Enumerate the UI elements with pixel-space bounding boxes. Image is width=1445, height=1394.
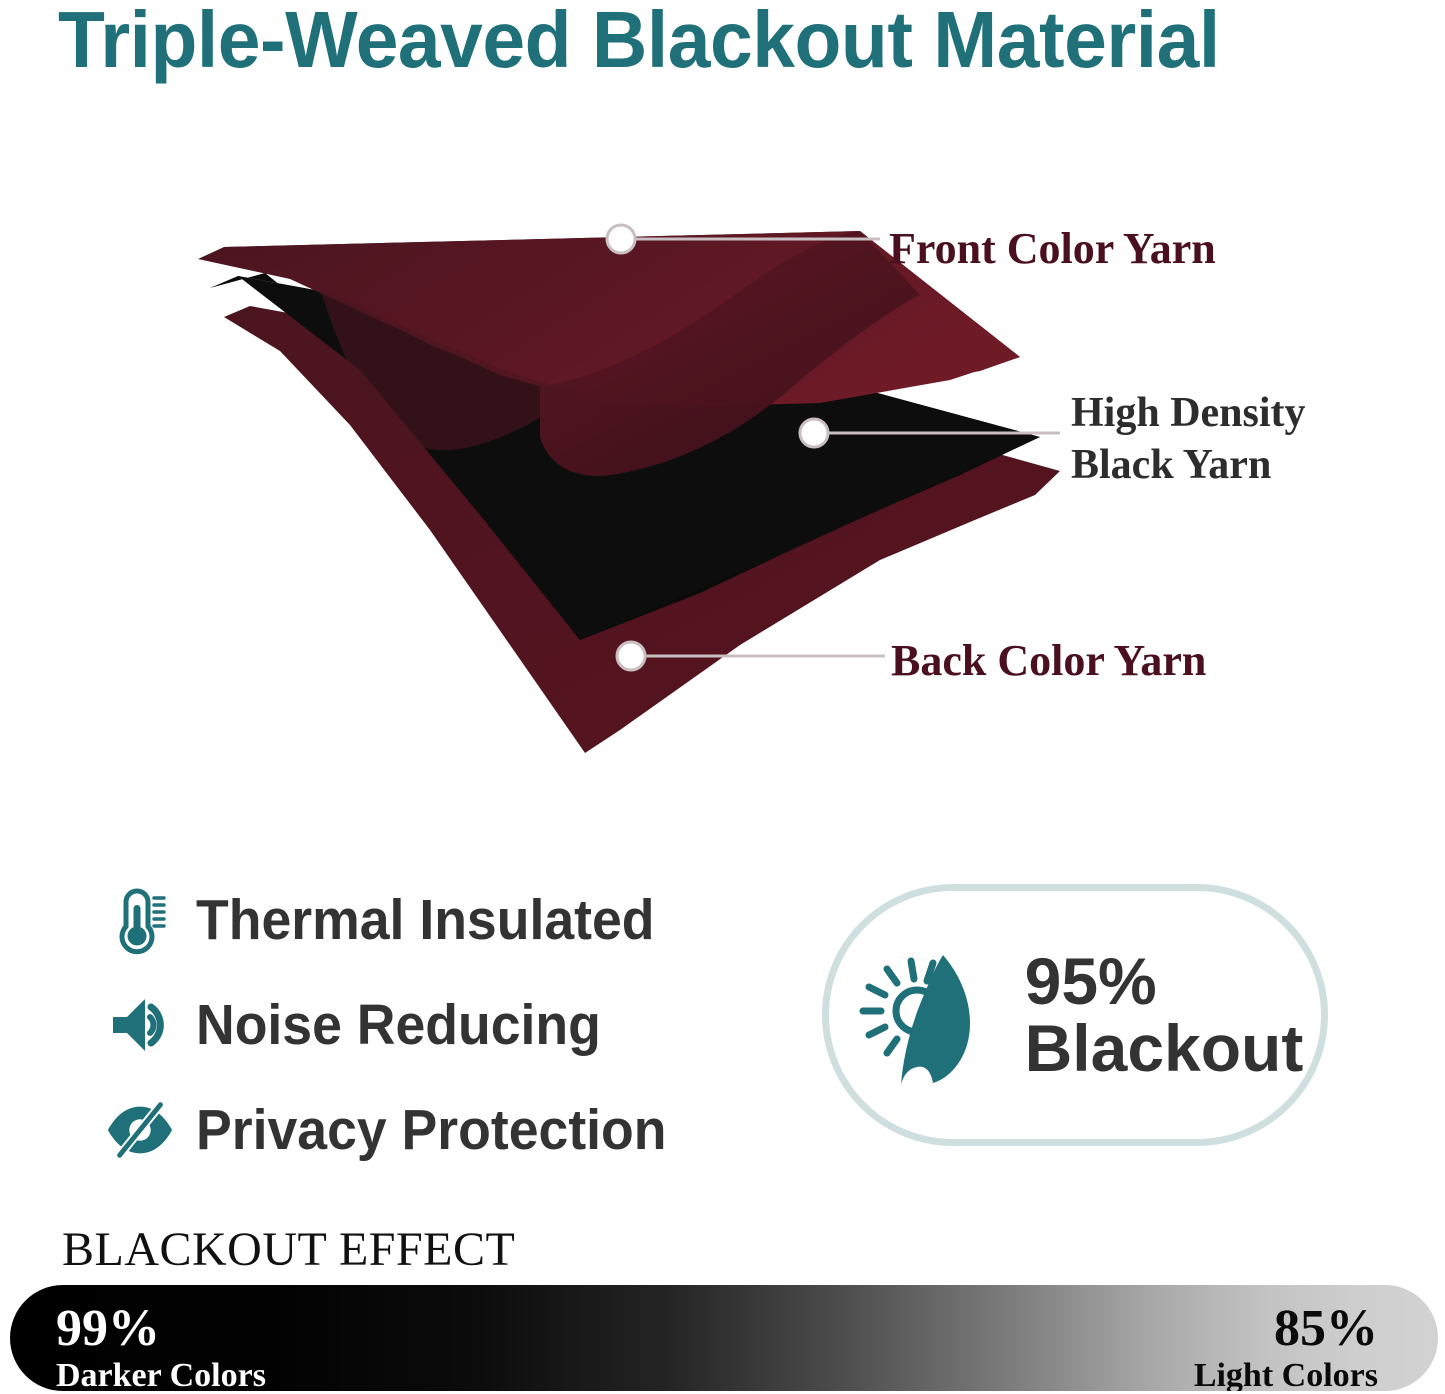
blackout-effect-heading: BLACKOUT EFFECT bbox=[62, 1222, 515, 1278]
gradient-bar-dark-end: 99% Darker Colors bbox=[56, 1301, 266, 1391]
dark-percent-value: 99% bbox=[56, 1301, 266, 1357]
feature-label: Privacy Protection bbox=[196, 1098, 666, 1162]
callout-label-front-color-yarn: Front Color Yarn bbox=[889, 222, 1216, 276]
blackout-label: Blackout bbox=[1025, 1015, 1304, 1082]
feature-list: Thermal Insulated Noise Reducing Privacy… bbox=[104, 876, 744, 1191]
callout-line-2: Black Yarn bbox=[1071, 442, 1271, 488]
feature-label: Thermal Insulated bbox=[196, 888, 655, 952]
speaker-sound-icon bbox=[104, 989, 176, 1061]
callout-label-high-density-black-yarn: High Density Black Yarn bbox=[1071, 387, 1306, 491]
callout-line-1: High Density bbox=[1071, 390, 1306, 436]
dark-sublabel: Darker Colors bbox=[56, 1357, 266, 1391]
blackout-percent-value: 95% bbox=[1025, 948, 1304, 1015]
callout-label-back-color-yarn: Back Color Yarn bbox=[891, 634, 1206, 688]
feature-label: Noise Reducing bbox=[196, 993, 601, 1057]
light-percent-value: 85% bbox=[1194, 1301, 1378, 1357]
feature-item-privacy-protection: Privacy Protection bbox=[104, 1086, 744, 1174]
thermometer-icon bbox=[104, 884, 176, 956]
sun-blocked-curtain-icon bbox=[847, 939, 995, 1091]
eye-slash-icon bbox=[104, 1094, 176, 1166]
feature-item-thermal-insulated: Thermal Insulated bbox=[104, 876, 744, 964]
callout-dot-icon bbox=[800, 419, 828, 447]
callout-dot-icon bbox=[617, 642, 645, 670]
feature-item-noise-reducing: Noise Reducing bbox=[104, 981, 744, 1069]
blackout-percentage-badge: 95% Blackout bbox=[822, 884, 1328, 1146]
page-title: Triple-Weaved Blackout Material bbox=[58, 0, 1364, 88]
callout-dot-icon bbox=[607, 225, 635, 253]
light-sublabel: Light Colors bbox=[1194, 1357, 1378, 1391]
blackout-effect-gradient-bar: 99% Darker Colors 85% Light Colors bbox=[10, 1285, 1438, 1391]
blackout-badge-text: 95% Blackout bbox=[1025, 948, 1304, 1083]
gradient-bar-light-end: 85% Light Colors bbox=[1194, 1301, 1378, 1391]
